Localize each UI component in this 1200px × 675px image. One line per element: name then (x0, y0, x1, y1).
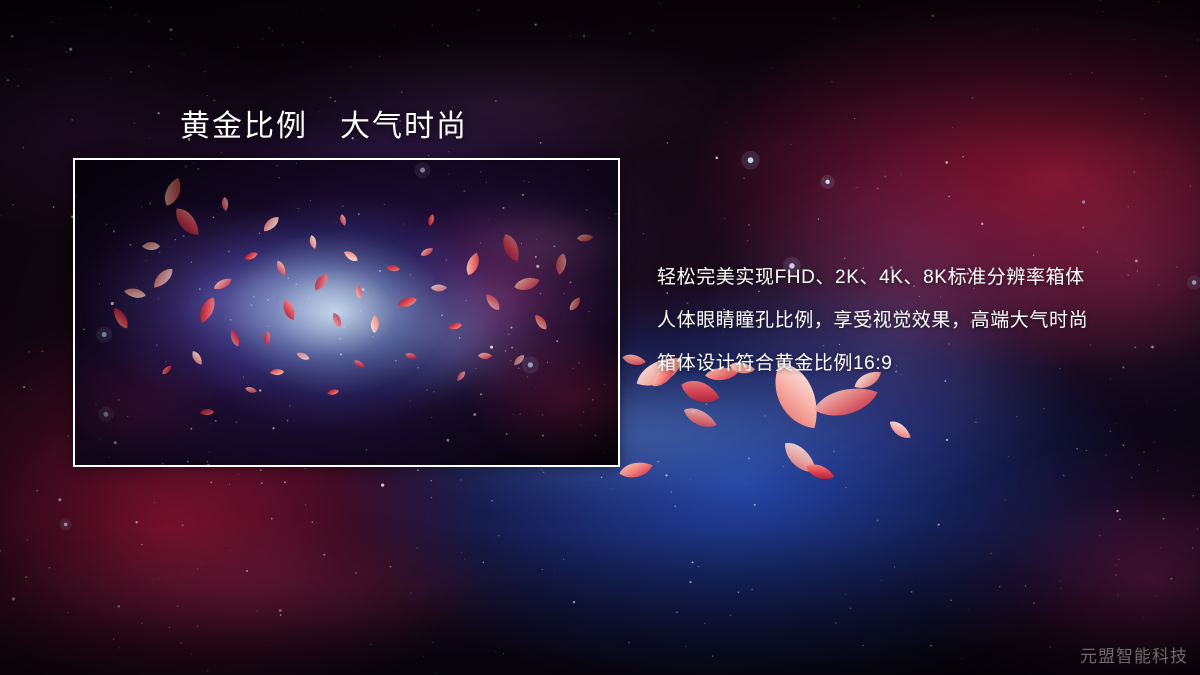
body-text-block: 轻松完美实现FHD、2K、4K、8K标准分辨率箱体 人体眼睛瞳孔比例，享受视觉效… (657, 256, 1177, 385)
presentation-slide: 黄金比例 大气时尚 轻松完美实现FHD、2K、4K、8K标准分辨率箱体 人体眼睛… (0, 0, 1200, 675)
body-line-1: 轻松完美实现FHD、2K、4K、8K标准分辨率箱体 (657, 256, 1177, 299)
photo-vignette (75, 160, 618, 465)
photo-nebula-gradient (75, 160, 618, 465)
watermark: 元盟智能科技 (1080, 642, 1188, 667)
body-line-2: 人体眼睛瞳孔比例，享受视觉效果，高端大气时尚 (657, 299, 1177, 342)
slide-title: 黄金比例 大气时尚 (180, 101, 468, 145)
framed-photo (73, 158, 620, 467)
body-line-3: 箱体设计符合黄金比例16:9 (657, 342, 1177, 385)
